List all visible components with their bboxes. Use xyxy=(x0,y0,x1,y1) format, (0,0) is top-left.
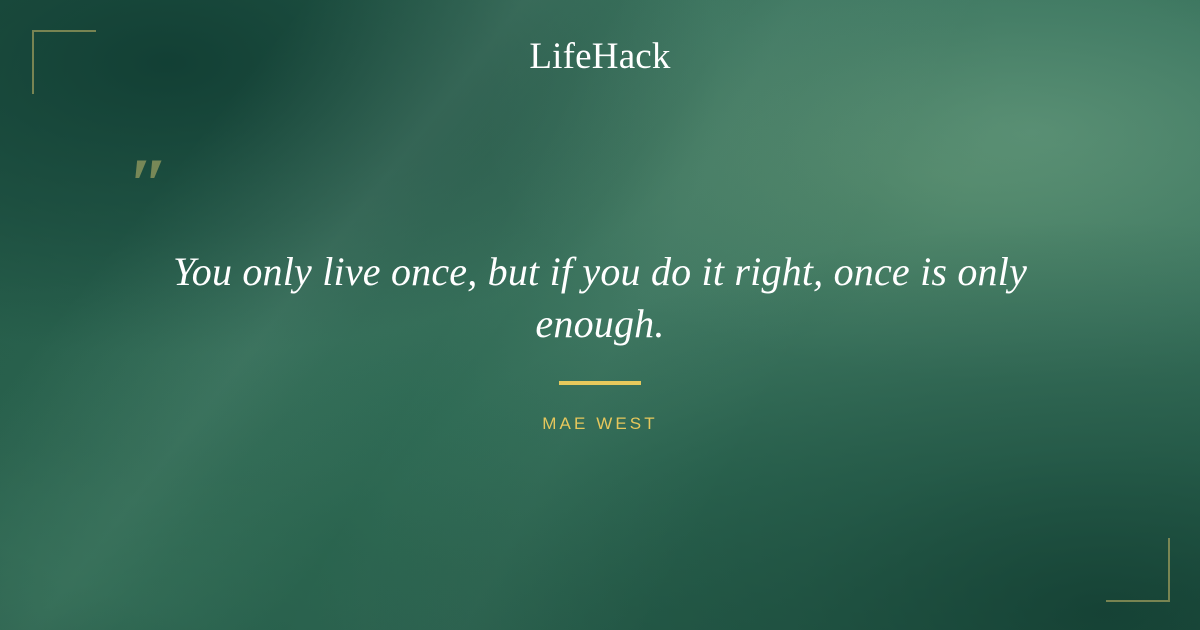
quote-author: MAE WEST xyxy=(0,415,1200,432)
quote-text-line-2: enough. xyxy=(150,298,1050,350)
brand-logo: LifeHack xyxy=(0,38,1200,75)
quote-text-line-1: You only live once, but if you do it rig… xyxy=(150,246,1050,298)
quote-card: LifeHack ″ You only live once, but if yo… xyxy=(0,0,1200,630)
quote-block: You only live once, but if you do it rig… xyxy=(150,246,1050,351)
quotation-mark-icon: ″ xyxy=(128,148,169,222)
quote-divider xyxy=(559,381,641,385)
corner-bracket-bottom-right-icon xyxy=(1106,538,1170,602)
